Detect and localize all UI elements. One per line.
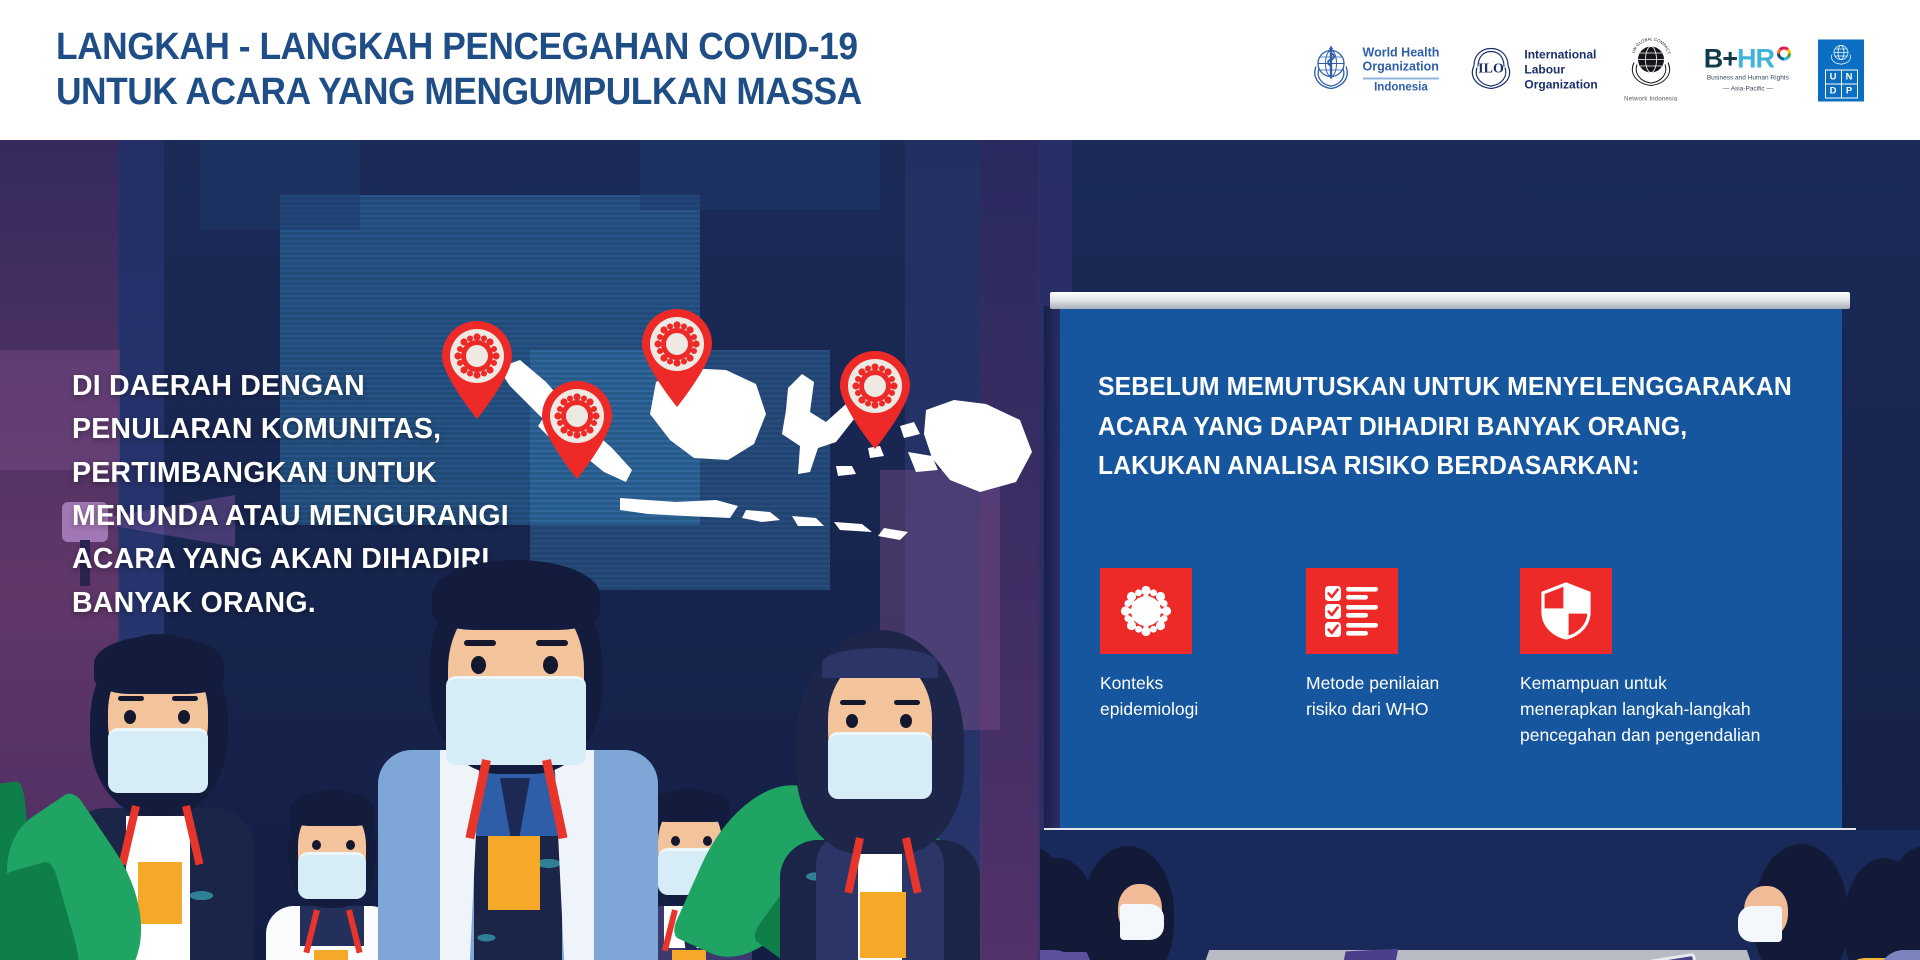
attendee-brow-right — [894, 700, 920, 705]
undp-letter-u: U — [1825, 70, 1842, 85]
shield-icon — [1520, 568, 1612, 654]
attendee-hair-fringe — [432, 560, 600, 630]
risk-card-label-line-2: menerapkan langkah-langkah — [1520, 697, 1840, 723]
poster-title: LANGKAH - LANGKAH PENCEGAHAN COVID-19 UN… — [56, 25, 922, 115]
infographic-poster: LANGKAH - LANGKAH PENCEGAHAN COVID-19 UN… — [0, 0, 1920, 960]
attendee-badge — [138, 862, 182, 924]
risk-card-label: Metode penilaian risiko dari WHO — [1306, 671, 1520, 723]
attendee-woman-hijab — [770, 630, 990, 960]
attendee-eye-left — [312, 840, 321, 850]
ilo-line-2: Labour — [1524, 63, 1565, 77]
poster-header: LANGKAH - LANGKAH PENCEGAHAN COVID-19 UN… — [0, 0, 1920, 140]
masked-attendees-group — [0, 570, 1060, 960]
attendee-brow-right — [172, 696, 198, 701]
attendee-eye-right — [178, 710, 190, 724]
ilo-emblem-icon: ILO — [1465, 44, 1517, 97]
attendee-hijab-band — [822, 648, 938, 678]
attendee-face-mask — [828, 732, 932, 799]
attendee-eye-left — [846, 714, 858, 728]
attendee-badge — [860, 892, 906, 958]
risk-card-label-line-1: Kemampuan untuk — [1520, 671, 1840, 697]
risk-card-label-line-3: pencegahan dan pengendalian — [1520, 723, 1840, 749]
participant-face-mask — [1120, 904, 1164, 940]
attendee-face-mask — [446, 676, 586, 765]
ilo-line-1: International — [1524, 48, 1596, 62]
ilo-mark-text: ILO — [1479, 62, 1505, 77]
meeting-participant-edge-right — [1860, 836, 1920, 960]
attendee-hair-fringe — [650, 790, 730, 822]
virus-location-pin — [836, 350, 914, 450]
left-headline-line-1: DI DAERAH DENGAN — [72, 365, 552, 408]
participant-hair — [1886, 846, 1920, 960]
global-compact-globe-icon: UN GLOBAL COMPACT — [1624, 77, 1678, 94]
right-panel-heading: SEBELUM MEMUTUSKAN UNTUK MENYELENGGARAKA… — [1098, 368, 1816, 487]
ilo-logo: ILO International Labour Organization — [1465, 44, 1597, 97]
attendee-badge — [672, 950, 706, 960]
projector-screen-top-rail — [1050, 292, 1850, 309]
risk-card-label: Konteks epidemiologi — [1100, 671, 1306, 723]
risk-card-epidemiology: Konteks epidemiologi — [1100, 568, 1306, 749]
checklist-icon — [1306, 568, 1398, 654]
who-country-label: Indonesia — [1363, 77, 1440, 94]
attendee-badge — [314, 950, 348, 960]
undp-emblem-icon — [1828, 42, 1854, 69]
attendee-face-mask — [298, 852, 366, 899]
right-heading-line-3: LAKUKAN ANALISA RISIKO BERDASARKAN: — [1098, 447, 1816, 487]
risk-card-label: Kemampuan untuk menerapkan langkah-langk… — [1520, 671, 1840, 749]
un-global-compact-network-indonesia-logo: UN GLOBAL COMPACT Network Indonesia — [1624, 38, 1678, 103]
attendee-eye-left — [124, 710, 136, 724]
attendee-hair-fringe — [94, 636, 224, 694]
title-line-1: LANGKAH - LANGKAH PENCEGAHAN COVID-19 — [56, 25, 862, 70]
attendee-eye-right — [900, 714, 912, 728]
undp-letter-grid: U N D P — [1825, 70, 1857, 98]
attendee-eye-left — [671, 836, 680, 846]
attendee-face-mask — [108, 728, 208, 793]
risk-card-label-line-2: epidemiologi — [1100, 697, 1306, 723]
right-heading-line-1: SEBELUM MEMUTUSKAN UNTUK MENYELENGGARAKA… — [1098, 368, 1816, 408]
bhr-letter-b: B — [1704, 46, 1723, 73]
partner-logos: World Health Organization Indonesia — [1306, 38, 1864, 103]
stage-beam-a — [200, 140, 360, 230]
ilo-logo-text: International Labour Organization — [1524, 48, 1597, 93]
risk-analysis-cards: Konteks epidemiologi — [1100, 568, 1840, 749]
who-emblem-icon — [1306, 43, 1356, 98]
who-logo-text: World Health Organization Indonesia — [1363, 46, 1440, 95]
undp-logo: U N D P — [1818, 39, 1864, 101]
stage-beam-b — [640, 140, 880, 210]
virus-icon — [1100, 568, 1192, 654]
undp-letter-d: D — [1825, 84, 1842, 99]
attendee-brow-left — [464, 640, 496, 646]
risk-card-label-line-2: risiko dari WHO — [1306, 697, 1520, 723]
attendee-eye-right — [543, 656, 558, 674]
attendee-man-blue-coat — [370, 510, 660, 960]
ilo-line-3: Organization — [1524, 78, 1597, 92]
undp-letter-p: P — [1841, 84, 1858, 99]
left-headline-line-3: PERTIMBANGKAN UNTUK — [72, 452, 552, 495]
attendee-badge — [488, 836, 540, 910]
risk-card-label-line-1: Metode penilaian — [1306, 671, 1520, 697]
who-line-2: Organization — [1363, 60, 1439, 74]
undp-letter-n: N — [1841, 70, 1858, 85]
bhr-plus-sign: + — [1722, 46, 1737, 73]
sdg-wheel-icon — [1776, 46, 1792, 67]
attendee-brow-left — [118, 696, 144, 701]
attendee-eye-right — [346, 840, 355, 850]
risk-card-label-line-1: Konteks — [1100, 671, 1306, 697]
risk-card-prevention-capacity: Kemampuan untuk menerapkan langkah-langk… — [1520, 568, 1840, 749]
left-headline-line-2: PENULARAN KOMUNITAS, — [72, 408, 552, 451]
attendee-eye-left — [471, 656, 486, 674]
attendee-hair-fringe — [290, 792, 374, 826]
risk-card-who-risk-assessment: Metode penilaian risiko dari WHO — [1306, 568, 1520, 749]
who-indonesia-logo: World Health Organization Indonesia — [1306, 43, 1440, 98]
poster-body: DI DAERAH DENGAN PENULARAN KOMUNITAS, PE… — [0, 140, 1920, 960]
bhr-asia-pacific-logo: B + HR — [1704, 46, 1792, 95]
bhr-letters-hr: HR — [1737, 46, 1774, 73]
meeting-room-scene — [1040, 830, 1920, 960]
participant-body — [1878, 950, 1920, 960]
right-heading-line-2: ACARA YANG DAPAT DIHADIRI BANYAK ORANG, — [1098, 408, 1816, 448]
bhr-caption-line-1: Business and Human Rights — [1704, 75, 1792, 84]
participant-face-mask — [1738, 906, 1782, 942]
virus-location-pin — [638, 308, 716, 408]
attendee-brow-right — [536, 640, 568, 646]
bhr-caption-line-2: — Asia-Pacific — — [1704, 86, 1792, 95]
attendee-brow-left — [840, 700, 866, 705]
global-compact-caption: Network Indonesia — [1624, 97, 1678, 103]
who-line-1: World Health — [1363, 46, 1440, 60]
title-line-2: UNTUK ACARA YANG MENGUMPULKAN MASSA — [56, 70, 862, 115]
